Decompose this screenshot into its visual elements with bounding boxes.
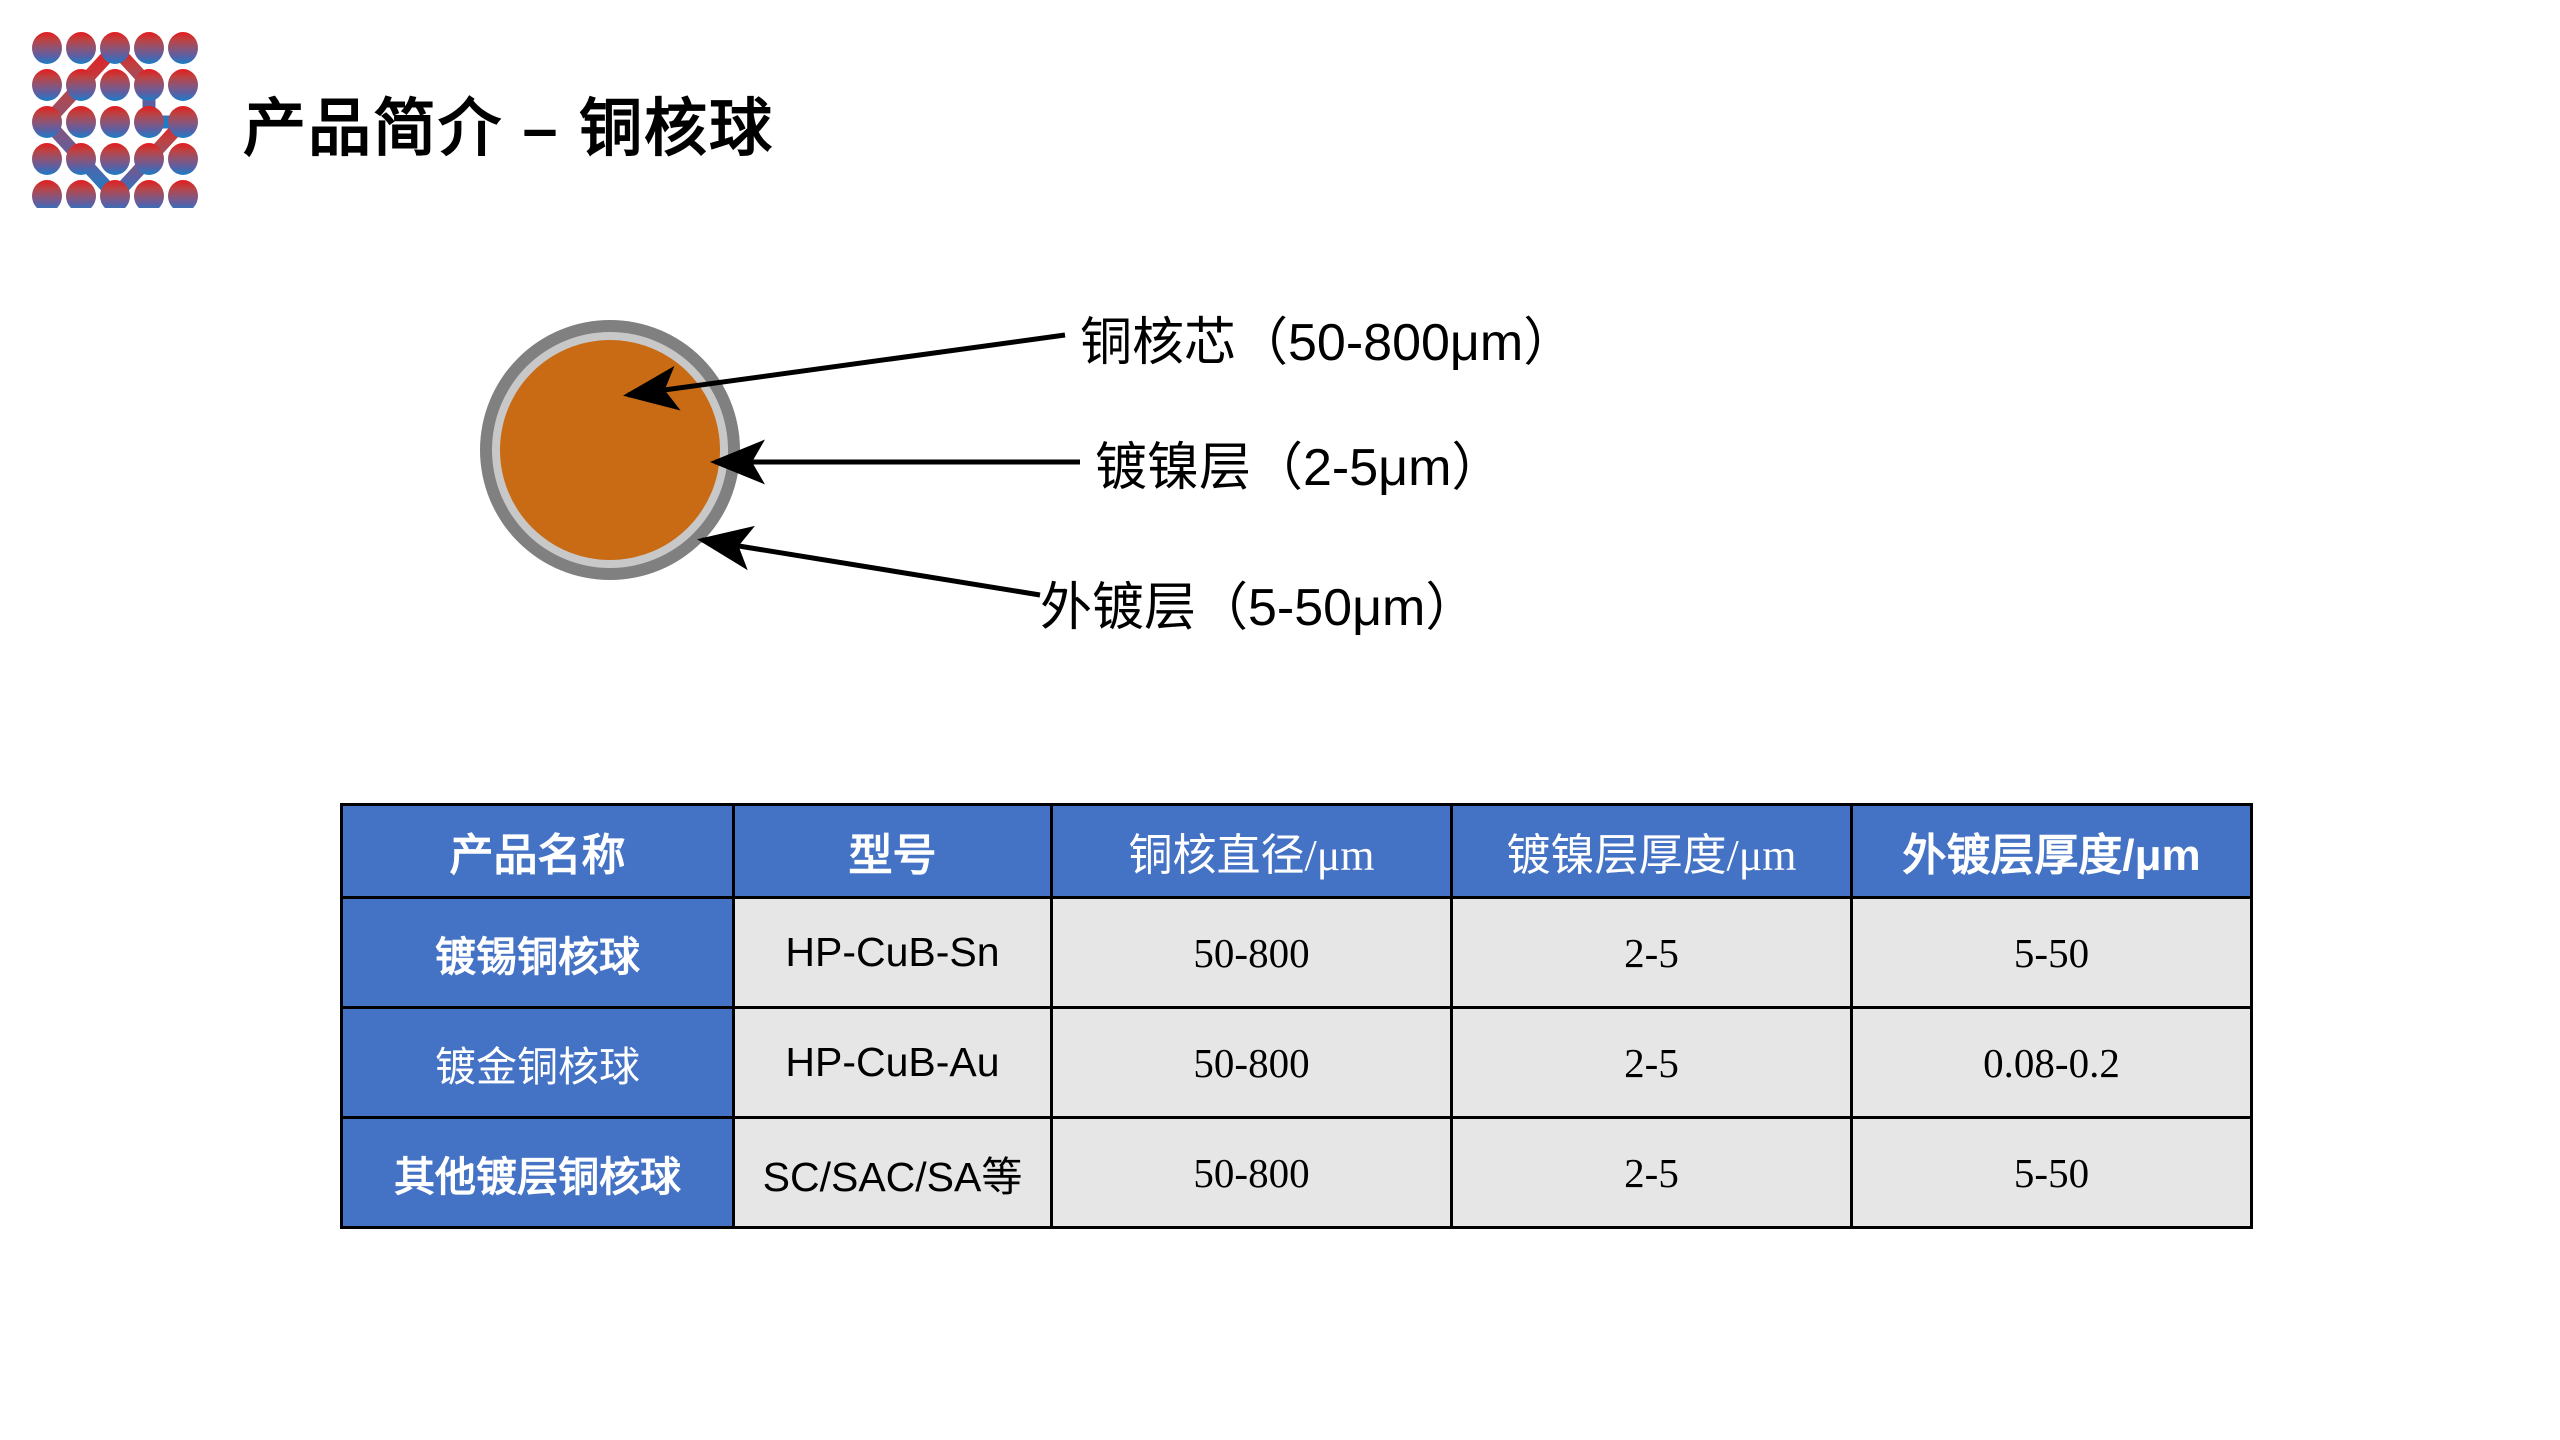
cell-model: SC/SAC/SA等 bbox=[734, 1118, 1052, 1228]
column-header-nickel-thickness: 镀镍层厚度/μm bbox=[1452, 805, 1852, 898]
page-title: 产品简介 – 铜核球 bbox=[243, 78, 774, 169]
cell-product-name: 镀金铜核球 bbox=[342, 1008, 734, 1118]
product-spec-table: 产品名称 型号 铜核直径/μm 镀镍层厚度/μm 外镀层厚度/μm 镀锡铜核球 … bbox=[340, 803, 2253, 1229]
cell-product-name: 镀锡铜核球 bbox=[342, 898, 734, 1008]
cell-core-diameter: 50-800 bbox=[1052, 1008, 1452, 1118]
cell-nickel-thickness: 2-5 bbox=[1452, 898, 1852, 1008]
table-row: 其他镀层铜核球 SC/SAC/SA等 50-800 2-5 5-50 bbox=[342, 1118, 2252, 1228]
cell-nickel-thickness: 2-5 bbox=[1452, 1008, 1852, 1118]
callout-label-nickel-layer: 镀镍层（2-5μm） bbox=[1095, 425, 1503, 500]
cell-core-diameter: 50-800 bbox=[1052, 1118, 1452, 1228]
cell-product-name: 其他镀层铜核球 bbox=[342, 1118, 734, 1228]
company-logo bbox=[30, 18, 200, 208]
cell-model: HP-CuB-Au bbox=[734, 1008, 1052, 1118]
column-header-model: 型号 bbox=[734, 805, 1052, 898]
column-header-product-name: 产品名称 bbox=[342, 805, 734, 898]
cell-core-diameter: 50-800 bbox=[1052, 898, 1452, 1008]
cell-outer-thickness: 5-50 bbox=[1852, 898, 2252, 1008]
logo-dot-matrix-icon bbox=[30, 18, 200, 208]
callout-label-copper-core: 铜核芯（50-800μm） bbox=[1080, 300, 1575, 375]
cell-nickel-thickness: 2-5 bbox=[1452, 1118, 1852, 1228]
table-row: 镀金铜核球 HP-CuB-Au 50-800 2-5 0.08-0.2 bbox=[342, 1008, 2252, 1118]
callout-label-outer-layer: 外镀层（5-50μm） bbox=[1040, 565, 1477, 640]
column-header-core-diameter: 铜核直径/μm bbox=[1052, 805, 1452, 898]
cell-outer-thickness: 0.08-0.2 bbox=[1852, 1008, 2252, 1118]
copper-core-ball-diagram: 铜核芯（50-800μm） 镀镍层（2-5μm） 外镀层（5-50μm） bbox=[440, 290, 1740, 690]
table-row: 镀锡铜核球 HP-CuB-Sn 50-800 2-5 5-50 bbox=[342, 898, 2252, 1008]
table-header-row: 产品名称 型号 铜核直径/μm 镀镍层厚度/μm 外镀层厚度/μm bbox=[342, 805, 2252, 898]
cell-outer-thickness: 5-50 bbox=[1852, 1118, 2252, 1228]
cell-model: HP-CuB-Sn bbox=[734, 898, 1052, 1008]
column-header-outer-thickness: 外镀层厚度/μm bbox=[1852, 805, 2252, 898]
